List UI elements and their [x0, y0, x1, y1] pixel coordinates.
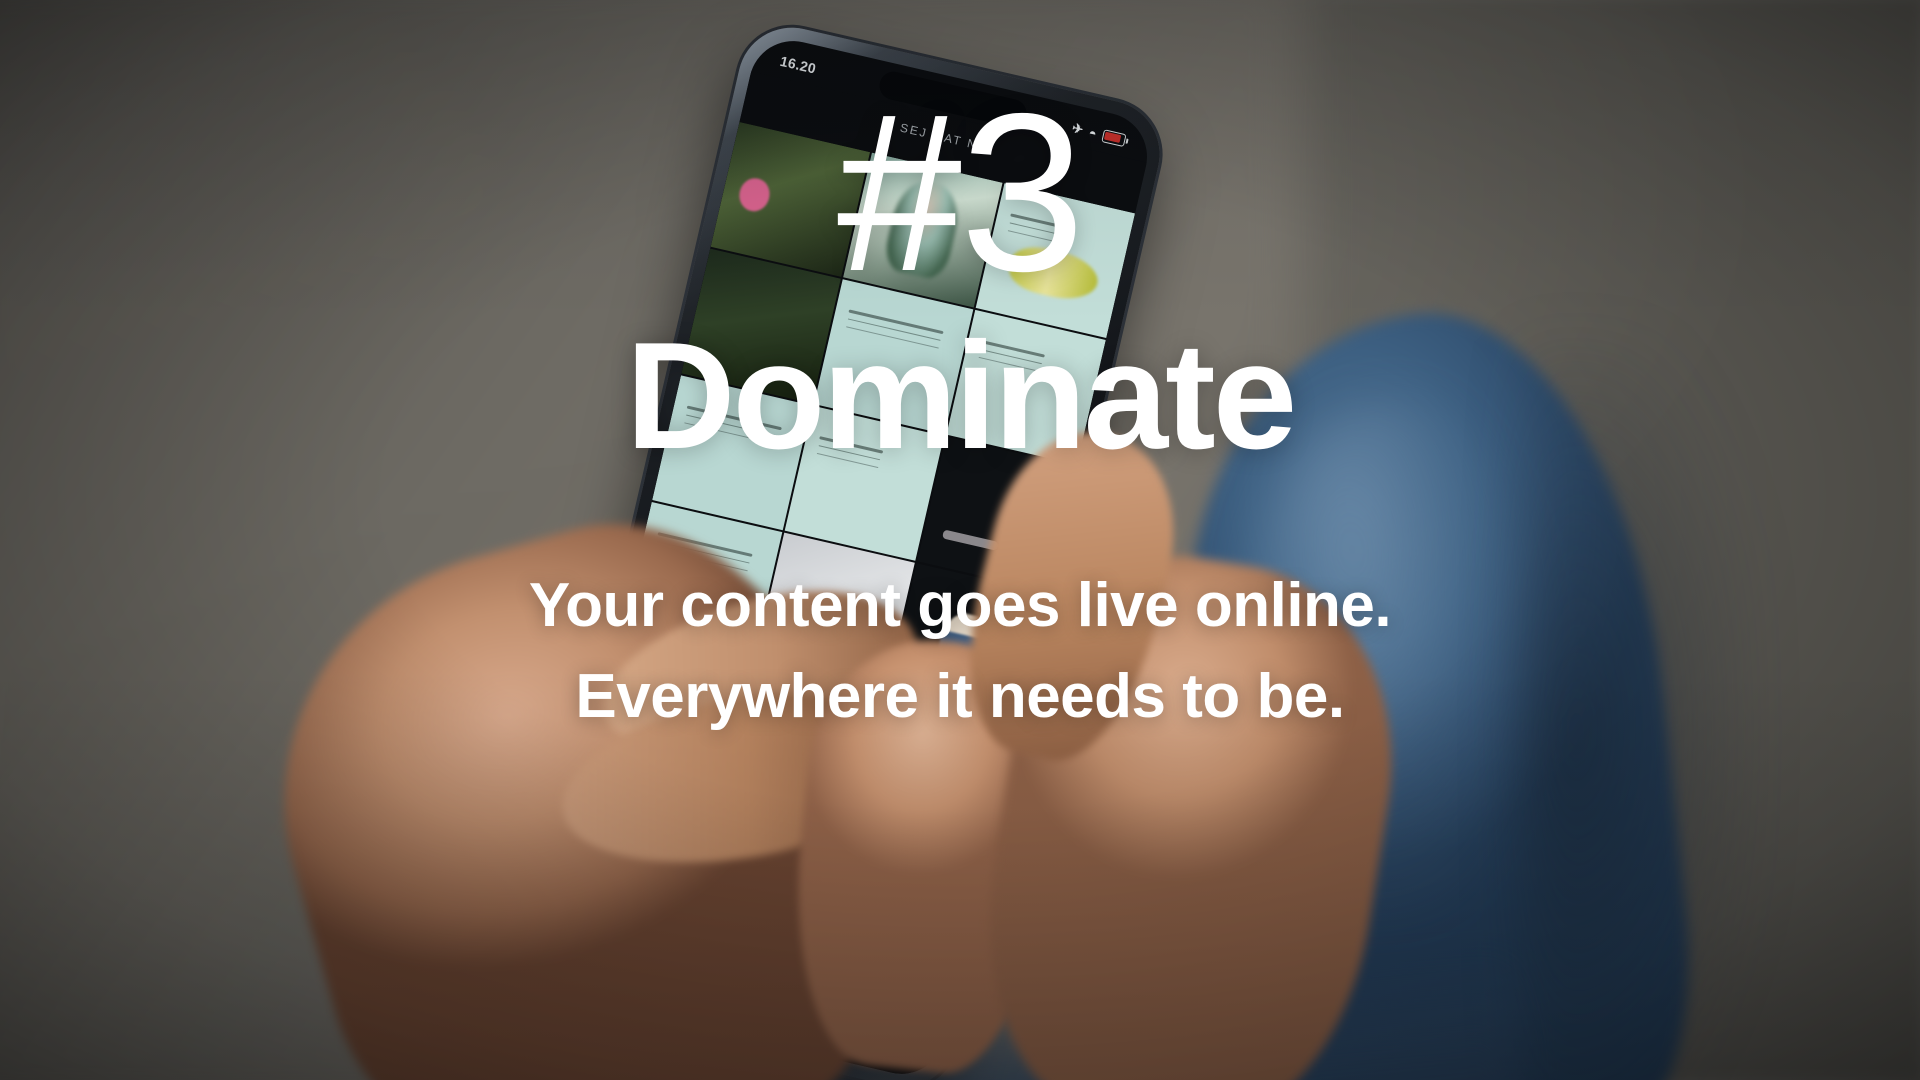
vignette [0, 0, 1920, 1080]
slide-canvas: 16.20 ✈ ◓ SEJ MAT NC [0, 0, 1920, 1080]
background-photo: 16.20 ✈ ◓ SEJ MAT NC [0, 0, 1920, 1080]
